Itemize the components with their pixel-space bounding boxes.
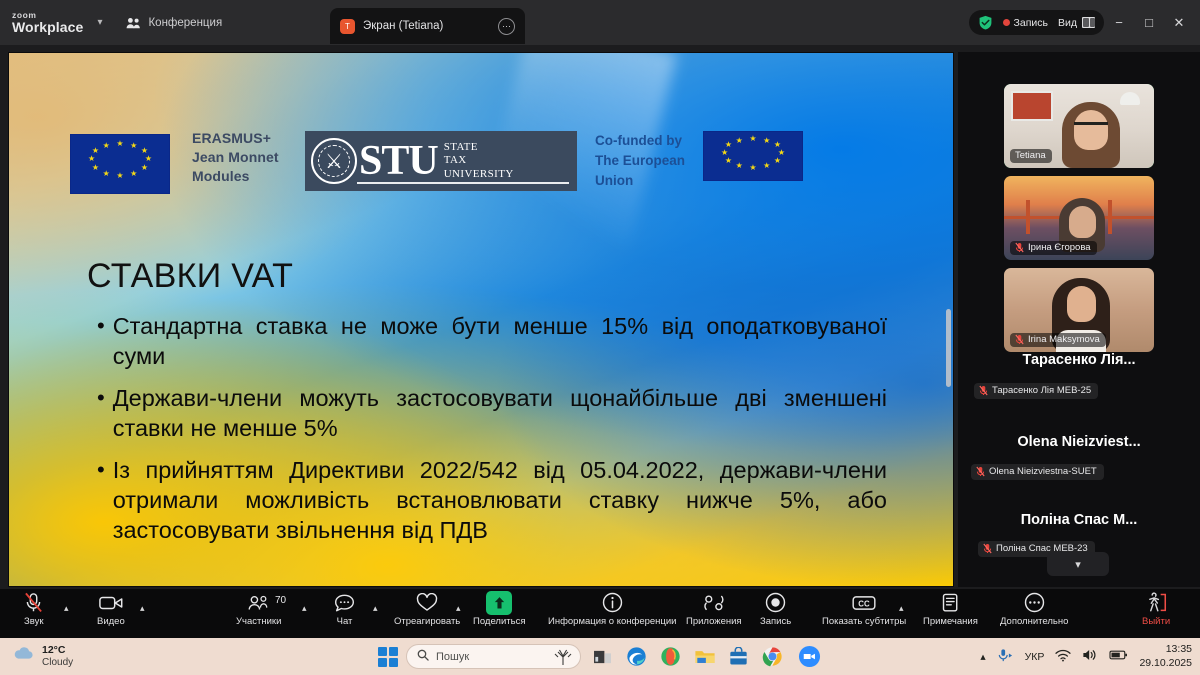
toolbar-label-leave: Выйти — [1142, 616, 1170, 627]
view-switcher[interactable]: Вид — [1058, 17, 1095, 29]
toolbar-button-apps[interactable]: Приложения — [686, 592, 742, 627]
status-pill-group: Запись Вид — [969, 10, 1104, 35]
toolbar-label-audio: Звук — [24, 616, 43, 627]
toolbar-button-leave[interactable]: Выйти — [1142, 592, 1170, 627]
stu-underline — [357, 182, 569, 184]
toolbar-button-video[interactable]: Видео — [97, 592, 125, 627]
toolbar-label-video: Видео — [97, 616, 125, 627]
shared-screen-area[interactable]: ★★ ★★ ★★ ★★ ★★ ★★ ERASMUS+ Jean Monnet M… — [8, 52, 954, 587]
cofunded-line-1: Co-funded by — [595, 131, 685, 151]
toolbar-button-notes[interactable]: Примечания — [923, 592, 978, 627]
tab-screen-share[interactable]: T Экран (Tetiana) ⋯ — [330, 8, 525, 44]
tab-avatar-badge: T — [340, 19, 355, 34]
toolbar-button-share[interactable]: Поделиться — [473, 592, 525, 627]
close-button[interactable]: ✕ — [1164, 0, 1194, 45]
windows-taskbar: 12°C Cloudy Пошук — [0, 638, 1200, 675]
slide-bullet: • Держави-члени можуть застосовувати щон… — [97, 383, 887, 443]
erasmus-line-2: Jean Monnet — [192, 148, 279, 167]
svg-text:CC: CC — [858, 599, 870, 608]
maximize-button[interactable]: □ — [1134, 0, 1164, 45]
tab-label: Экран (Tetiana) — [363, 20, 490, 32]
slide-bullet: • Стандартна ставка не може бути менше 1… — [97, 311, 887, 371]
bullet-text: Стандартна ставка не може бути менше 15%… — [113, 311, 887, 371]
slide-logo-row: ★★ ★★ ★★ ★★ ★★ ★★ ERASMUS+ Jean Monnet M… — [9, 53, 953, 151]
record-icon — [765, 592, 786, 613]
share-scrollbar[interactable] — [946, 309, 951, 387]
bullet-text: Із прийняттям Директиви 2022/542 від 05.… — [113, 455, 887, 545]
notes-icon — [942, 592, 959, 613]
bullet-text: Держави-члени можуть застосовувати щонай… — [113, 383, 887, 443]
chevron-down-icon[interactable]: ▾ — [97, 17, 102, 28]
zoom-app-window: zoom Workplace ▾ Конференция T Экран (Te… — [0, 0, 1200, 675]
toolbar-label-share: Поделиться — [473, 616, 525, 627]
brand-zoom: zoom — [12, 11, 83, 20]
participant-display-name: Поліна Спас М... — [958, 512, 1200, 528]
toolbar-label-captions: Показать субтитры — [822, 616, 906, 627]
edge-icon[interactable] — [624, 644, 649, 669]
chevron-up-icon-video[interactable]: ▴ — [140, 603, 145, 614]
toolbar-label-participants: Участники — [236, 616, 281, 627]
video-participant-name: Tetiana — [1015, 150, 1046, 161]
toolbar-label-chat: Чат — [337, 616, 353, 627]
cofunded-line-3: Union — [595, 171, 685, 191]
chevron-up-icon-audio[interactable]: ▴ — [64, 603, 69, 614]
erasmus-line-1: ERASMUS+ — [192, 129, 279, 148]
more-horizontal-icon[interactable]: ⋯ — [498, 18, 515, 35]
slide-title: СТАВКИ VAT — [87, 257, 293, 296]
cloud-icon — [12, 646, 35, 666]
recording-label: Запись — [1014, 17, 1048, 29]
slide-bullet: • Із прийняттям Директиви 2022/542 від 0… — [97, 455, 887, 545]
stu-logo: ⚔ STU STATE TAX UNIVERSITY — [305, 131, 577, 191]
participants-icon — [248, 592, 270, 613]
chevron-up-icon-participants[interactable]: ▴ — [302, 603, 307, 614]
minimize-button[interactable]: − — [1104, 0, 1134, 45]
microphone-muted-icon — [983, 543, 992, 554]
stu-sub-3: UNIVERSITY — [444, 168, 514, 182]
taskbar-clock[interactable]: 13:35 29.10.2025 — [1139, 643, 1192, 669]
weather-description: Cloudy — [42, 657, 73, 668]
share-screen-icon — [486, 592, 512, 613]
video-name-badge: Ірина Єгорова — [1010, 241, 1097, 255]
windows-start-icon[interactable] — [378, 647, 397, 666]
video-name-badge: Irina Maksymova — [1010, 333, 1106, 347]
meeting-toolbar: Звук ▴ Видео ▴ Участники — [0, 589, 1200, 638]
video-tile[interactable]: Ірина Єгорова — [1004, 176, 1154, 260]
nav-item-meetings[interactable]: Конференция — [126, 17, 222, 29]
slide-bullet-list: • Стандартна ставка не може бути менше 1… — [97, 311, 887, 557]
stu-emblem-icon: ⚔ — [311, 138, 357, 184]
microphone-muted-icon — [24, 592, 43, 613]
toolbar-label-record: Запись — [760, 616, 791, 627]
info-icon — [602, 592, 623, 613]
microphone-muted-icon — [979, 385, 988, 396]
chevron-up-icon[interactable]: ▴ — [980, 651, 985, 663]
people-icon — [126, 17, 141, 29]
stu-sub-1: STATE — [444, 141, 514, 155]
toolbar-button-react[interactable]: Отреагировать — [394, 592, 460, 627]
heart-icon — [416, 592, 438, 613]
toolbar-label-more: Дополнительно — [1000, 616, 1068, 627]
chevron-up-icon-chat[interactable]: ▴ — [373, 603, 378, 614]
volume-icon[interactable] — [1082, 648, 1098, 665]
microphone-muted-icon — [1015, 334, 1024, 345]
microphone-icon[interactable] — [997, 648, 1014, 666]
participant-display-name: Тарасенко Лія... — [958, 352, 1200, 368]
wifi-icon[interactable] — [1055, 649, 1071, 665]
participants-count: 70 — [275, 595, 286, 606]
video-participant-name: Ірина Єгорова — [1028, 242, 1091, 253]
brand-workplace: Workplace — [12, 20, 83, 34]
bullet-marker: • — [97, 455, 105, 545]
toolbar-button-chat[interactable]: Чат — [334, 592, 355, 627]
search-input[interactable]: Пошук — [406, 644, 581, 669]
opera-icon[interactable] — [658, 644, 683, 669]
toolbar-button-meeting-info[interactable]: Информация о конференции — [548, 592, 677, 627]
taskbar-center-group: Пошук — [378, 638, 822, 675]
search-decoration-icon — [552, 648, 574, 669]
search-placeholder: Пошук — [436, 651, 469, 663]
language-indicator[interactable]: УКР — [1025, 651, 1045, 663]
cofunded-line-2: The European — [595, 151, 685, 171]
nav-label-meetings: Конференция — [148, 17, 222, 29]
stu-subtitle: STATE TAX UNIVERSITY — [444, 141, 514, 182]
search-icon — [417, 649, 429, 664]
clock-date: 29.10.2025 — [1139, 657, 1192, 670]
video-tile[interactable]: Irina Maksymova — [1004, 268, 1154, 352]
stu-wordmark: STU — [359, 140, 438, 182]
toolbar-button-captions[interactable]: CC Показать субтитры — [822, 592, 906, 627]
toolbar-button-record[interactable]: Запись — [760, 592, 791, 627]
view-label: Вид — [1058, 17, 1077, 29]
eu-flag-icon: ★★ ★★ ★★ ★★ ★★ ★★ — [70, 134, 170, 194]
title-bar: zoom Workplace ▾ Конференция T Экран (Te… — [0, 0, 1200, 45]
toolbar-label-meeting-info: Информация о конференции — [548, 616, 677, 627]
chrome-icon[interactable] — [760, 644, 785, 669]
leave-icon — [1145, 592, 1167, 613]
more-icon — [1024, 592, 1045, 613]
chevron-down-icon[interactable]: ▾ — [1047, 552, 1109, 576]
eu-flag-icon: ★★ ★★ ★★ ★★ ★★ ★★ — [703, 131, 803, 181]
toolbar-button-audio[interactable]: Звук — [24, 592, 43, 627]
toolbar-label-notes: Примечания — [923, 616, 978, 627]
bullet-marker: • — [97, 311, 105, 371]
bullet-marker: • — [97, 383, 105, 443]
taskbar-weather-widget[interactable]: 12°C Cloudy — [12, 645, 73, 668]
chevron-up-icon-captions[interactable]: ▴ — [899, 603, 904, 614]
toolbar-label-react: Отреагировать — [394, 616, 460, 627]
recording-indicator[interactable]: Запись — [1003, 17, 1048, 29]
battery-icon[interactable] — [1109, 649, 1128, 664]
video-participant-name: Irina Maksymova — [1028, 334, 1100, 345]
participant-name-chip: Тарасенко Лія МЕВ-25 — [974, 383, 1098, 399]
erasmus-line-3: Modules — [192, 167, 279, 186]
shield-check-icon[interactable] — [978, 15, 993, 30]
participant-chip-label: Olena Nieizviestna-SUET — [989, 466, 1097, 477]
store-icon[interactable] — [726, 644, 751, 669]
zoom-icon[interactable] — [797, 644, 822, 669]
layout-icon — [1082, 17, 1095, 28]
toolbar-button-more[interactable]: Дополнительно — [1000, 592, 1068, 627]
taskview-icon[interactable] — [590, 644, 615, 669]
zoom-brand: zoom Workplace — [12, 11, 83, 35]
stu-sub-2: TAX — [444, 154, 514, 168]
record-dot-icon — [1003, 19, 1010, 26]
camera-icon — [99, 592, 123, 613]
explorer-icon[interactable] — [692, 644, 717, 669]
erasmus-caption: ERASMUS+ Jean Monnet Modules — [192, 129, 279, 186]
video-tile[interactable]: Tetiana — [1004, 84, 1154, 168]
participant-name-chip: Olena Nieizviestna-SUET — [971, 464, 1104, 480]
system-tray: ▴ УКР — [980, 638, 1192, 675]
weather-temperature: 12°C — [42, 645, 73, 657]
chevron-up-icon-react[interactable]: ▴ — [456, 603, 461, 614]
closed-caption-icon: CC — [852, 592, 876, 613]
chat-icon — [334, 592, 355, 613]
microphone-muted-icon — [1015, 242, 1024, 253]
window-right-controls: Запись Вид − □ ✕ — [969, 0, 1200, 45]
apps-icon — [703, 592, 725, 613]
participant-rail: Tetiana Іри — [958, 52, 1200, 587]
participant-chip-label: Тарасенко Лія МЕВ-25 — [992, 385, 1091, 396]
toolbar-label-apps: Приложения — [686, 616, 742, 627]
video-name-badge: Tetiana — [1010, 149, 1052, 163]
presentation-slide: ★★ ★★ ★★ ★★ ★★ ★★ ERASMUS+ Jean Monnet M… — [9, 53, 953, 586]
cofunded-caption: Co-funded by The European Union — [595, 131, 685, 191]
microphone-muted-icon — [976, 466, 985, 477]
clock-time: 13:35 — [1139, 643, 1192, 656]
participant-display-name: Olena Nieizviest... — [958, 434, 1200, 450]
